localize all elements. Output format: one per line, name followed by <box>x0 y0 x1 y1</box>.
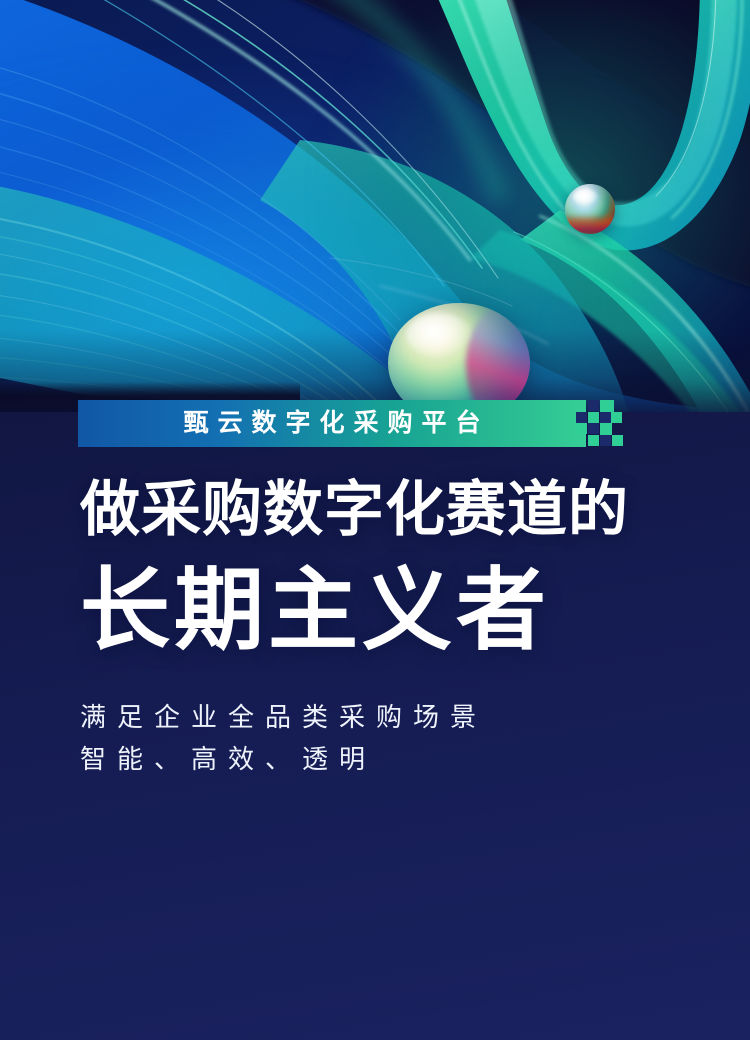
headline-line-1: 做采购数字化赛道的 <box>80 478 680 543</box>
platform-badge-bar: 甄云数字化采购平台 <box>78 400 586 447</box>
subtitle-block: 满足企业全品类采购场景 智能、高效、透明 <box>80 696 680 780</box>
pixel-blocks-icon <box>574 396 626 452</box>
headline-line-2: 长期主义者 <box>80 561 680 662</box>
platform-badge-label: 甄云数字化采购平台 <box>174 411 489 436</box>
copy-block: 做采购数字化赛道的 长期主义者 满足企业全品类采购场景 智能、高效、透明 <box>80 478 680 780</box>
pixel-blocks-decoration <box>574 396 626 452</box>
flowing-ribbon-artwork <box>0 0 750 412</box>
subtitle-line-2: 智能、高效、透明 <box>80 738 680 780</box>
subtitle-line-1: 满足企业全品类采购场景 <box>80 696 680 738</box>
platform-badge: 甄云数字化采购平台 <box>78 400 586 447</box>
ribbon-artwork-svg <box>0 0 750 412</box>
promo-poster: 甄云数字化采购平台 做采购数字化赛道的 长期主义 <box>0 0 750 1040</box>
